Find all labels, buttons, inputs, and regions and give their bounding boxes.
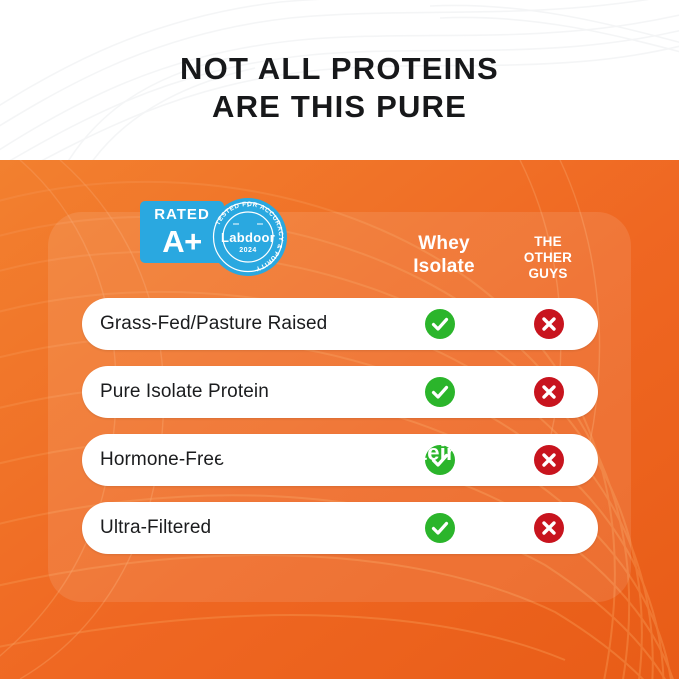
labdoor-seal-word: Labdoor [208,230,288,245]
column-header-other-line-2: OTHER [500,250,596,266]
certification-badges: RATED A+ TESTED FOR ACCURACY & PURITY [140,197,325,277]
header-section: NOT ALL PROTEINS ARE THIS PURE [0,0,679,160]
promo-graphic: NOT ALL PROTEINS ARE THIS PURE [0,0,679,679]
column-header-other-guys: THE OTHER GUYS [500,234,596,282]
column-header-other-line-1: THE [500,234,596,250]
column-header-other-line-3: GUYS [500,266,596,282]
page-title-line-2: ARE THIS PURE [0,88,679,126]
page-title-line-1: NOT ALL PROTEINS [0,50,679,88]
table-row: Grass-Fed/Pasture Raised [82,298,598,350]
cross-icon [534,513,564,543]
labdoor-seal-year: 2024 [208,247,288,254]
comparison-rows: Grass-Fed/Pasture Raised Pure Isolate Pr… [82,298,598,570]
check-icon [425,309,455,339]
check-icon [425,513,455,543]
table-row: Ultra-Filtered [82,502,598,554]
labdoor-seal: TESTED FOR ACCURACY & PURITY Labdoor 202… [208,197,288,277]
cross-icon [534,309,564,339]
check-icon [425,377,455,407]
column-header-whey-isolate: Whey Isolate [392,232,496,278]
row-label: Grass-Fed/Pasture Raised [100,298,327,350]
row-label: Pure Isolate Protein [100,366,269,418]
tagline: “Less Fat, More Protein” [0,440,679,466]
column-header-whey-line-2: Isolate [392,255,496,278]
column-header-whey-line-1: Whey [392,232,496,255]
cross-icon [534,377,564,407]
table-row: Pure Isolate Protein [82,366,598,418]
row-label: Ultra-Filtered [100,502,211,554]
page-title: NOT ALL PROTEINS ARE THIS PURE [0,50,679,126]
